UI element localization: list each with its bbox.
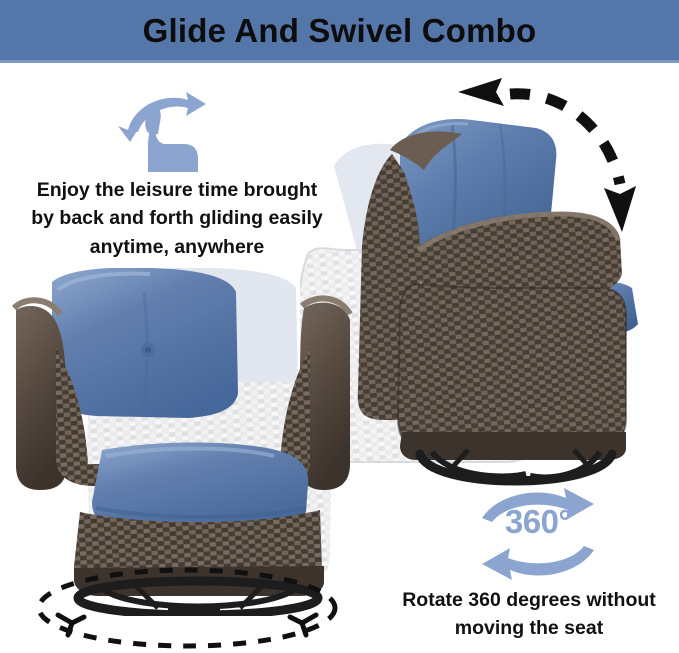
swivel-caption-line-1: Rotate 360 degrees without	[385, 586, 673, 614]
swivel-caption: Rotate 360 degrees without moving the se…	[385, 586, 673, 643]
header-underline	[0, 60, 679, 63]
glide-caption-line-2: by back and forth gliding easily	[18, 204, 336, 232]
header-banner: Glide And Swivel Combo	[0, 0, 679, 60]
infographic-page: Glide And Swivel Combo	[0, 0, 679, 653]
glide-caption-line-3: anytime, anywhere	[18, 233, 336, 261]
page-title: Glide And Swivel Combo	[143, 14, 537, 47]
swivel-caption-line-2: moving the seat	[385, 614, 673, 642]
glide-caption-line-1: Enjoy the leisure time brought	[18, 176, 336, 204]
glide-chair-icon	[112, 86, 232, 174]
glide-caption: Enjoy the leisure time brought by back a…	[18, 176, 336, 261]
rotate-360-label: 360°	[472, 505, 604, 538]
swivel-chair-front-photo	[8, 268, 364, 616]
